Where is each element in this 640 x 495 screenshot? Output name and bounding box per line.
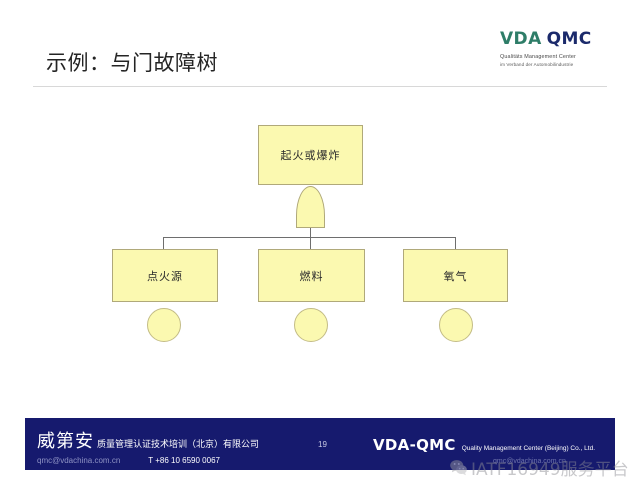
logo-subtitle-primary: Qualitäts Management Center — [500, 53, 610, 61]
footer-phone-number: T +86 10 6590 0067 — [148, 456, 220, 465]
fault-tree-basic-event-circle-2 — [294, 308, 328, 342]
fault-tree-connector-drop-3 — [455, 237, 456, 249]
footer-company-block: 威第安 质量管理认证技术培训（北京）有限公司 qmc@vdachina.com.… — [37, 427, 259, 465]
footer-vdaqmc-wordmark: VDA-QMC — [373, 436, 456, 454]
fault-tree-basic-event-circle-3 — [439, 308, 473, 342]
footer-brand-fullname: 质量管理认证技术培训（北京）有限公司 — [97, 437, 259, 450]
fault-tree-basic-event-circle-1 — [147, 308, 181, 342]
footer-vdaqmc-fullname: Quality Management Center (Beijing) Co.,… — [462, 445, 595, 452]
fault-tree-top-event-box: 起火或爆炸 — [258, 125, 363, 185]
logo-subtitle-secondary: im Verband der Automobilindustrie — [500, 61, 610, 68]
footer-contact-line: qmc@vdachina.com.cn T +86 10 6590 0067 — [37, 456, 259, 465]
fault-tree-basic-event-box-3: 氧气 — [403, 249, 508, 302]
fault-tree-connector-drop-1 — [163, 237, 164, 249]
slide-header: 示例：与门故障树 VDAQMC Qualitäts Management Cen… — [0, 0, 640, 90]
footer-vdaqmc-block: VDA-QMC Quality Management Center (Beiji… — [373, 436, 595, 454]
fault-tree-basic-event-label-2: 燃料 — [300, 268, 324, 284]
fault-tree-basic-event-label-3: 氧气 — [444, 268, 468, 284]
logo-vda-text: VDA — [500, 29, 542, 49]
fault-tree-and-gate — [296, 186, 325, 228]
fault-tree-diagram: 起火或爆炸 点火源 燃料 氧气 — [0, 100, 640, 370]
footer-brand-line: 威第安 质量管理认证技术培训（北京）有限公司 — [37, 427, 259, 453]
logo-qmc-text: QMC — [547, 29, 592, 49]
page-title: 示例：与门故障树 — [46, 47, 218, 77]
page-number: 19 — [318, 440, 327, 449]
footer-email-secondary[interactable]: qmc@vdachina.com.cn — [493, 458, 566, 465]
slide-canvas: 示例：与门故障树 VDAQMC Qualitäts Management Cen… — [0, 0, 640, 495]
slide-footer: 威第安 质量管理认证技术培训（北京）有限公司 qmc@vdachina.com.… — [25, 418, 615, 470]
footer-brand-name: 威第安 — [37, 427, 94, 453]
fault-tree-connector-drop-2 — [310, 237, 311, 249]
fault-tree-connector-gate-stem — [310, 228, 311, 237]
footer-email-link[interactable]: qmc@vdachina.com.cn — [37, 456, 120, 465]
header-divider — [33, 86, 607, 87]
vda-qmc-logo: VDAQMC Qualitäts Management Center im Ve… — [500, 30, 610, 68]
fault-tree-basic-event-box-2: 燃料 — [258, 249, 365, 302]
fault-tree-top-event-label: 起火或爆炸 — [281, 147, 341, 163]
fault-tree-basic-event-label-1: 点火源 — [147, 268, 183, 284]
fault-tree-basic-event-box-1: 点火源 — [112, 249, 218, 302]
logo-wordmark: VDAQMC — [500, 30, 610, 49]
